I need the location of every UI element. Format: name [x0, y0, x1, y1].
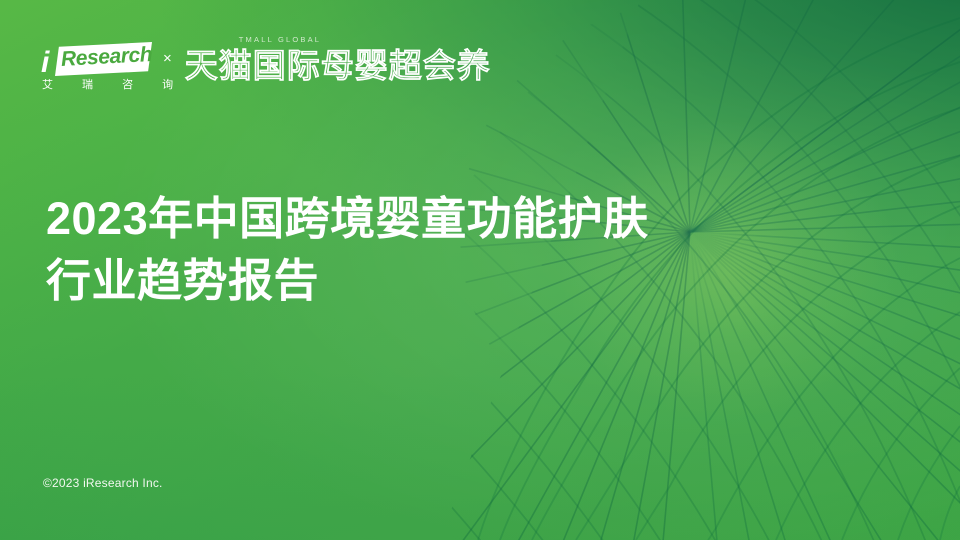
bottom-fade-overlay [0, 370, 960, 540]
tmall-chinese-label: 天猫国际母婴超会养 [185, 49, 491, 82]
page-title-line-1: 2023年中国跨境婴童功能护肤 [46, 188, 766, 250]
copyright-notice: ©2023 iResearch Inc. [43, 477, 163, 489]
iresearch-mark-letter: i [41, 48, 48, 78]
report-cover-slide: i Research 艾 瑞 咨 询 × TMALL GLOBAL 天猫国际母婴… [0, 0, 960, 540]
iresearch-wordmark: Research [60, 44, 152, 70]
tmall-global-logo: TMALL GLOBAL 天猫国际母婴超会养 [185, 42, 491, 82]
iresearch-logo: i Research 艾 瑞 咨 询 [41, 42, 151, 102]
iresearch-chinese-name: 艾 瑞 咨 询 [42, 80, 186, 91]
tmall-english-label: TMALL GLOBAL [239, 36, 321, 44]
logo-lockup: i Research 艾 瑞 咨 询 × TMALL GLOBAL 天猫国际母婴… [41, 42, 491, 102]
page-title-line-2: 行业趋势报告 [46, 250, 766, 312]
page-title: 2023年中国跨境婴童功能护肤 行业趋势报告 [46, 188, 766, 312]
logo-separator-icon: × [163, 51, 172, 66]
